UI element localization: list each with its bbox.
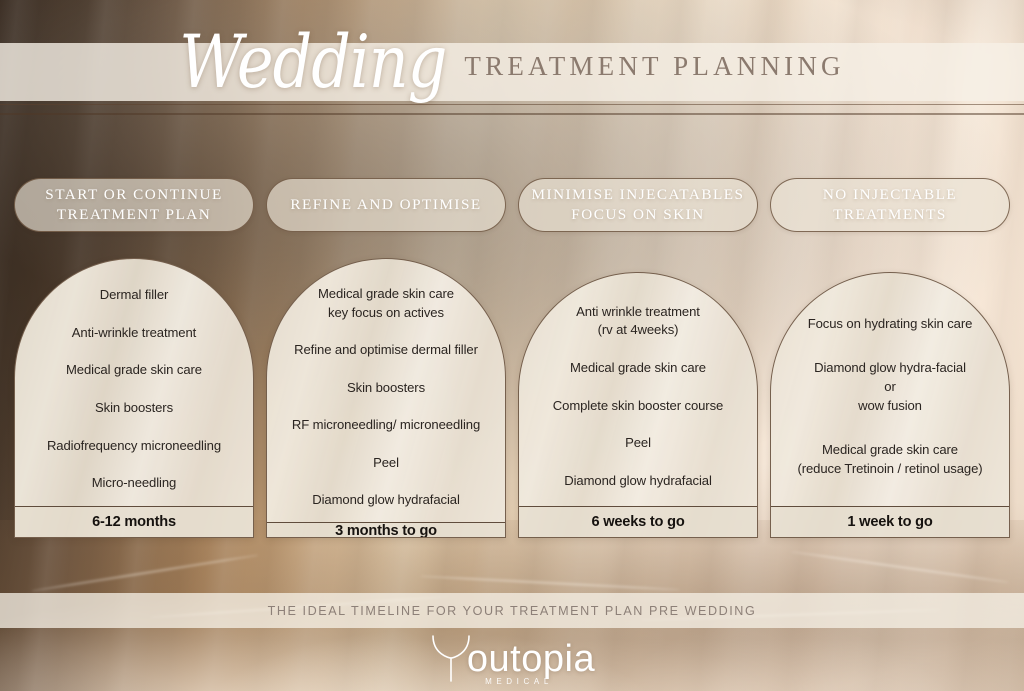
list-item: Medical grade skin care (reduce Tretinoi… <box>797 441 982 478</box>
list-item: Medical grade skin care <box>66 361 202 380</box>
column-header-pill-4[interactable]: NO INJECTABLE TREATMENTS <box>770 178 1010 232</box>
list-item: Diamond glow hydra-facial or wow fusion <box>814 359 966 415</box>
logo-subtitle: MEDICAL <box>485 677 553 686</box>
column-header-label-2: REFINE AND OPTIMISE <box>290 195 481 215</box>
timeline-column-3: MINIMISE INJECATABLES FOCUS ON SKIN Anti… <box>518 178 758 538</box>
timeframe-label-2: 3 months to go <box>335 523 437 538</box>
list-item: Diamond glow hydrafacial <box>564 472 712 491</box>
timeline-column-2: REFINE AND OPTIMISE Medical grade skin c… <box>266 178 506 538</box>
treatment-card-3: Anti wrinkle treatment (rv at 4weeks) Me… <box>518 272 758 538</box>
title-script: Wedding <box>179 25 446 98</box>
list-item: Micro-needling <box>92 474 176 493</box>
timeframe-badge-1: 6-12 months <box>15 506 253 537</box>
list-item: Refine and optimise dermal filler <box>294 341 478 360</box>
column-header-pill-1[interactable]: START OR CONTINUE TREATMENT PLAN <box>14 178 254 232</box>
timeline-column-4: NO INJECTABLE TREATMENTS Focus on hydrat… <box>770 178 1010 538</box>
timeframe-badge-3: 6 weeks to go <box>519 506 757 537</box>
title-subtitle: TREATMENT PLANNING <box>464 51 844 82</box>
column-header-label-1: START OR CONTINUE TREATMENT PLAN <box>45 185 223 225</box>
poster: Wedding TREATMENT PLANNING START OR CONT… <box>0 0 1024 691</box>
treatment-list-4: Focus on hydrating skin care Diamond glo… <box>771 273 1009 506</box>
treatment-card-4: Focus on hydrating skin care Diamond glo… <box>770 272 1010 538</box>
list-item: Medical grade skin care <box>570 359 706 378</box>
column-header-label-3: MINIMISE INJECATABLES FOCUS ON SKIN <box>532 185 745 225</box>
list-item: Complete skin booster course <box>553 397 723 416</box>
header-divider-bottom <box>0 113 1024 115</box>
brand-logo: outopia MEDICAL <box>0 634 1024 686</box>
timeframe-label-1: 6-12 months <box>92 514 176 530</box>
treatment-list-2: Medical grade skin care key focus on act… <box>267 259 505 522</box>
list-item: Dermal filler <box>100 286 169 305</box>
y-logo-icon <box>429 634 473 680</box>
list-item: Radiofrequency microneedling <box>47 437 221 456</box>
list-item: Diamond glow hydrafacial <box>312 491 460 510</box>
timeframe-badge-2: 3 months to go <box>267 522 505 538</box>
timeframe-label-3: 6 weeks to go <box>591 514 684 530</box>
list-item: Skin boosters <box>347 379 425 398</box>
list-item: Peel <box>625 434 651 453</box>
column-header-pill-3[interactable]: MINIMISE INJECATABLES FOCUS ON SKIN <box>518 178 758 232</box>
footer-band: THE IDEAL TIMELINE FOR YOUR TREATMENT PL… <box>0 593 1024 628</box>
list-item: Focus on hydrating skin care <box>808 315 973 334</box>
list-item: Peel <box>373 454 399 473</box>
column-header-pill-2[interactable]: REFINE AND OPTIMISE <box>266 178 506 232</box>
list-item: Medical grade skin care key focus on act… <box>318 285 454 322</box>
header-divider-top <box>0 104 1024 105</box>
timeframe-badge-4: 1 week to go <box>771 506 1009 537</box>
timeline-columns: START OR CONTINUE TREATMENT PLAN Dermal … <box>14 178 1010 538</box>
treatment-card-1: Dermal filler Anti-wrinkle treatment Med… <box>14 258 254 538</box>
footer-tagline: THE IDEAL TIMELINE FOR YOUR TREATMENT PL… <box>268 604 757 618</box>
treatment-list-3: Anti wrinkle treatment (rv at 4weeks) Me… <box>519 273 757 506</box>
logo-wordmark: outopia <box>467 640 595 678</box>
column-header-label-4: NO INJECTABLE TREATMENTS <box>823 185 957 225</box>
page-title: Wedding TREATMENT PLANNING <box>0 28 1024 103</box>
treatment-list-1: Dermal filler Anti-wrinkle treatment Med… <box>15 259 253 506</box>
timeframe-label-4: 1 week to go <box>847 514 932 530</box>
list-item: Anti wrinkle treatment (rv at 4weeks) <box>576 303 700 340</box>
list-item: RF microneedling/ microneedling <box>292 416 480 435</box>
list-item: Anti-wrinkle treatment <box>72 324 196 343</box>
treatment-card-2: Medical grade skin care key focus on act… <box>266 258 506 538</box>
timeline-column-1: START OR CONTINUE TREATMENT PLAN Dermal … <box>14 178 254 538</box>
list-item: Skin boosters <box>95 399 173 418</box>
